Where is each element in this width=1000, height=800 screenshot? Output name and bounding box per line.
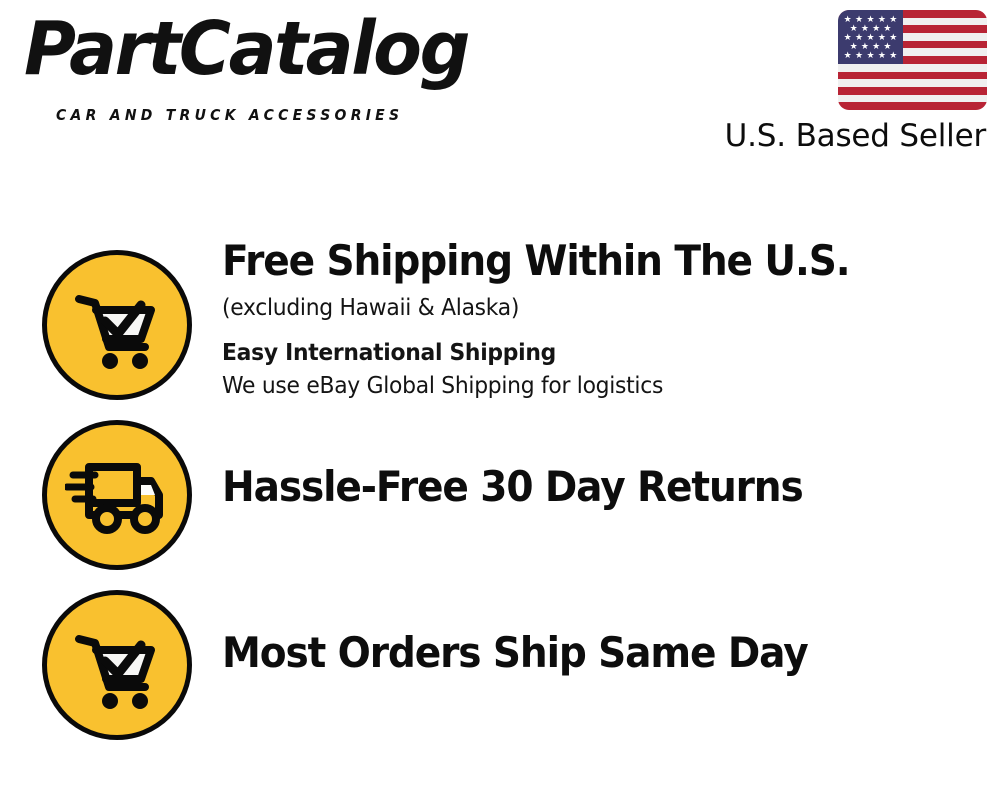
shopping-cart-check-icon <box>42 250 192 400</box>
feature-subdetail: We use eBay Global Shipping for logistic… <box>222 371 942 402</box>
feature-heading: Free Shipping Within The U.S. <box>222 238 927 283</box>
feature-list: Free Shipping Within The U.S. (excluding… <box>0 232 1000 742</box>
brand-wordmark: PartCatalog <box>24 12 468 86</box>
brand-logo: PartCatalog CAR AND TRUCK ACCESSORIES <box>24 18 494 122</box>
feature-heading: Most Orders Ship Same Day <box>222 630 927 675</box>
feature-text-block: Most Orders Ship Same Day <box>222 630 980 675</box>
shopping-cart-check-icon <box>42 590 192 740</box>
feature-text-block: Hassle-Free 30 Day Returns <box>222 464 980 509</box>
feature-text-block: Free Shipping Within The U.S. (excluding… <box>222 238 980 403</box>
feature-subheading: Easy International Shipping <box>222 338 942 369</box>
delivery-truck-icon <box>42 420 192 570</box>
feature-row: Free Shipping Within The U.S. (excluding… <box>0 232 1000 402</box>
feature-subnote: (excluding Hawaii & Alaska) <box>222 293 942 324</box>
feature-row: Most Orders Ship Same Day <box>0 572 1000 742</box>
flag-canton: ★★★★★ ★★★★ ★★★★★ ★★★★ ★★★★★ <box>838 10 903 64</box>
us-flag-icon: ★★★★★ ★★★★ ★★★★★ ★★★★ ★★★★★ <box>838 10 987 110</box>
seller-banner: PartCatalog CAR AND TRUCK ACCESSORIES ★★… <box>0 0 1000 800</box>
feature-heading: Hassle-Free 30 Day Returns <box>222 464 927 509</box>
seller-badge-label: U.S. Based Seller <box>725 118 986 154</box>
feature-row: Hassle-Free 30 Day Returns <box>0 402 1000 572</box>
brand-tagline: CAR AND TRUCK ACCESSORIES <box>56 106 403 124</box>
flag-stars: ★★★★★ ★★★★ ★★★★★ ★★★★ ★★★★★ <box>838 10 903 64</box>
